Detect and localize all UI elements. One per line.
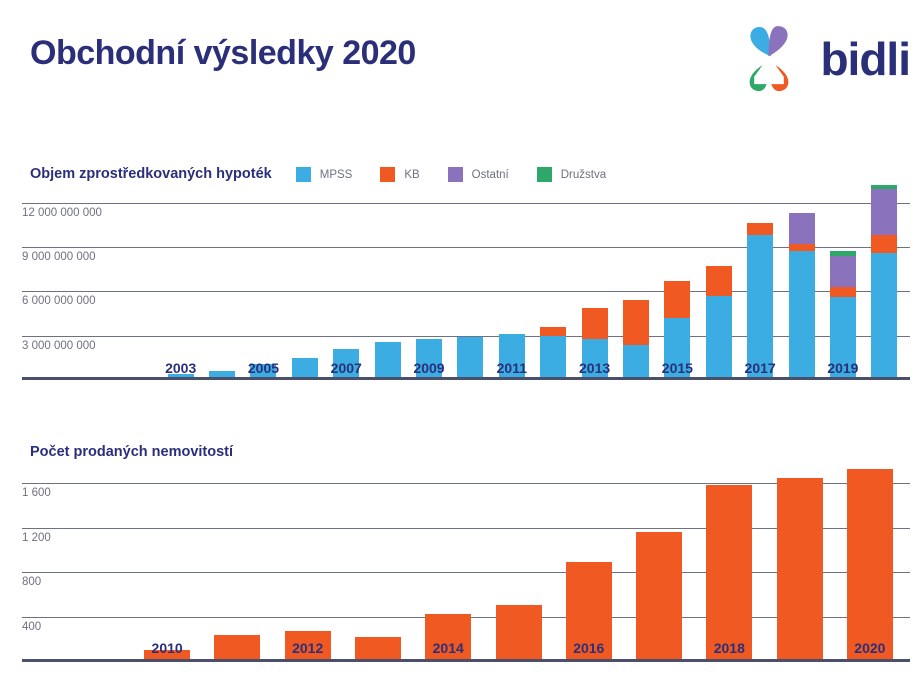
chart-properties: Počet prodaných nemovitostí 4008001 2001… [0,434,918,662]
bar-2019 [830,251,856,377]
y-axis-tick-label: 3 000 000 000 [22,340,96,352]
bar-2020 [847,469,893,659]
legend-label-ostatni: Ostatní [472,169,509,181]
legend-swatch-kb [380,167,395,182]
chart-mortgages-plot: 3 000 000 0006 000 000 0009 000 000 0001… [0,188,918,380]
y-axis-tick-label: 9 000 000 000 [22,251,96,263]
bar-segment-ostatn [830,256,856,287]
legend-label-mpss: MPSS [320,169,353,181]
gridline [22,247,910,248]
bar-segment-kb [871,235,897,253]
legend-item-druzstva: Družstva [537,167,606,182]
bar-2018 [706,485,752,659]
bar-segment-kb [747,223,773,235]
bar-2020 [871,185,897,377]
bar-segment-ostatn [789,213,815,244]
bar-segment-drustva [830,251,856,256]
legend-swatch-ostatni [448,167,463,182]
x-axis-tick-label: 2017 [745,360,776,376]
x-axis-tick-label: 2019 [827,360,858,376]
bar-segment-kb [582,308,608,339]
chart-properties-title: Počet prodaných nemovitostí [30,444,233,460]
chart-properties-header: Počet prodaných nemovitostí [0,434,918,460]
legend-item-mpss: MPSS [296,167,353,182]
x-axis-tick-label: 2012 [292,640,323,656]
bar-segment-kb [830,287,856,297]
bar-2017 [747,223,773,377]
bar-segment-kb [664,281,690,318]
bar-segment-mpss [747,235,773,377]
gridline [22,291,910,292]
y-axis-tick-label: 800 [22,576,41,588]
bar-segment-poetprodanchnemovitost [706,485,752,659]
x-axis-tick-label: 2007 [331,360,362,376]
y-axis-tick-label: 400 [22,621,41,633]
x-axis-tick-label: 2014 [433,640,464,656]
bar-segment-poetprodanchnemovitost [847,469,893,659]
bar-segment-kb [789,244,815,251]
bar-segment-poetprodanchnemovitost [777,478,823,659]
gridline [22,203,910,204]
legend-item-ostatni: Ostatní [448,167,509,182]
y-axis-tick-label: 12 000 000 000 [22,207,102,219]
brand-logo: bidli [732,22,910,96]
brand-name: bidli [820,36,910,82]
chart-mortgages-title: Objem zprostředkovaných hypoték [30,166,272,182]
x-axis-tick-label: 2003 [165,360,196,376]
x-axis-tick-label: 2013 [579,360,610,376]
bidli-logo-icon [732,22,806,96]
legend-swatch-druzstva [537,167,552,182]
legend-swatch-mpss [296,167,311,182]
page-title: Obchodní výsledky 2020 [30,34,416,73]
x-axis-tick-label: 2015 [662,360,693,376]
chart-properties-plot: 4008001 2001 600 [0,466,918,662]
bar-2018 [789,213,815,377]
x-axis-tick-label: 2018 [714,640,745,656]
x-axis-tick-label: 2009 [413,360,444,376]
y-axis-tick-label: 6 000 000 000 [22,295,96,307]
x-axis-tick-label: 2016 [573,640,604,656]
x-axis-tick-label: 2020 [854,640,885,656]
infographic-page: Obchodní výsledky 2020 bidli Objem zpros… [0,0,918,689]
bar-segment-ostatn [871,189,897,235]
bar-2019 [777,478,823,659]
chart-mortgages-header: Objem zprostředkovaných hypoték MPSS KB … [0,156,918,182]
bar-segment-kb [623,300,649,344]
legend-label-druzstva: Družstva [561,169,606,181]
y-axis-tick-label: 1 600 [22,487,51,499]
bar-segment-kb [706,266,732,296]
chart-properties-xaxis: 201020122014201620182020 [0,640,918,664]
chart-mortgages-xaxis: 200320052007200920112013201520172019 [0,360,918,384]
chart-legend: MPSS KB Ostatní Družstva [296,167,634,182]
x-axis-tick-label: 2005 [248,360,279,376]
bar-segment-mpss [789,251,815,377]
bar-segment-kb [540,327,566,336]
x-axis-tick-label: 2010 [152,640,183,656]
x-axis-tick-label: 2011 [497,360,527,376]
bar-segment-drustva [871,185,897,189]
legend-label-kb: KB [404,169,419,181]
chart-mortgages: Objem zprostředkovaných hypoték MPSS KB … [0,156,918,380]
y-axis-tick-label: 1 200 [22,532,51,544]
legend-item-kb: KB [380,167,419,182]
bar-segment-mpss [871,253,897,377]
